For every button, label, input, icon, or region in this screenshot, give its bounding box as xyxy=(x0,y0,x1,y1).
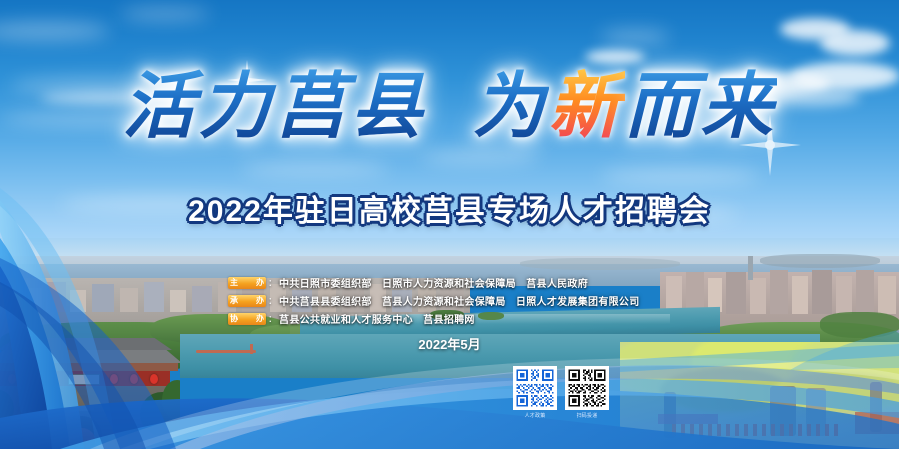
organizer-row: 主办 ： 中共日照市委组织部 日照市人力资源和社会保障局 莒县人民政府 xyxy=(228,276,698,289)
title-part-1: 活力莒县 xyxy=(122,63,426,148)
separator: ： xyxy=(268,312,277,325)
badge-organizer: 主办 xyxy=(228,277,266,289)
badge-char-2: 办 xyxy=(256,313,264,324)
qr-label: 扫码投递 xyxy=(565,412,609,419)
qr-code-item[interactable]: 扫码投递 xyxy=(565,366,609,428)
qr-code-item[interactable]: 人才政策 xyxy=(513,366,557,428)
badge-char-2: 办 xyxy=(256,295,264,306)
badge-char-1: 主 xyxy=(230,277,238,288)
organizer-text: 中共日照市委组织部 日照市人力资源和社会保障局 莒县人民政府 xyxy=(279,275,588,290)
separator: ： xyxy=(268,276,277,289)
separator: ： xyxy=(268,294,277,307)
badge-char-1: 协 xyxy=(230,313,238,324)
badge-host: 承办 xyxy=(228,295,266,307)
organizer-row: 协办 ： 莒县公共就业和人才服务中心 莒县招聘网 xyxy=(228,312,698,325)
qr-label: 人才政策 xyxy=(513,412,557,419)
badge-char-1: 承 xyxy=(230,295,238,306)
event-date: 2022年5月 xyxy=(0,334,899,353)
qr-code-group: 人才政策 xyxy=(513,366,609,428)
title-part-2-pre: 为 xyxy=(472,63,548,148)
badge-char-2: 办 xyxy=(256,277,264,288)
organizer-list: 主办 ： 中共日照市委组织部 日照市人力资源和社会保障局 莒县人民政府 承办 ：… xyxy=(228,276,698,330)
organizer-row: 承办 ： 中共莒县县委组织部 莒县人力资源和社会保障局 日照人才发展集团有限公司 xyxy=(228,294,698,307)
organizer-text: 莒县公共就业和人才服务中心 莒县招聘网 xyxy=(279,311,475,326)
title-part-2-accent: 新 xyxy=(549,63,625,148)
subtitle: 2022年驻日高校莒县专场人才招聘会 xyxy=(0,186,899,230)
badge-coorganizer: 协办 xyxy=(228,313,266,325)
ancient-ginkgo-tree-photo xyxy=(620,342,899,449)
title-part-2-post: 而来 xyxy=(625,63,777,148)
qr-code-scan-apply[interactable] xyxy=(565,366,609,410)
page-title: 活力莒县为新而来 xyxy=(0,52,899,160)
recruitment-poster: 活力莒县为新而来 2022年驻日高校莒县专场人才招聘会 主办 ： 中共日照市委组… xyxy=(0,0,899,449)
organizer-text: 中共莒县县委组织部 莒县人力资源和社会保障局 日照人才发展集团有限公司 xyxy=(279,293,640,308)
qr-code-talent-policy[interactable] xyxy=(513,366,557,410)
